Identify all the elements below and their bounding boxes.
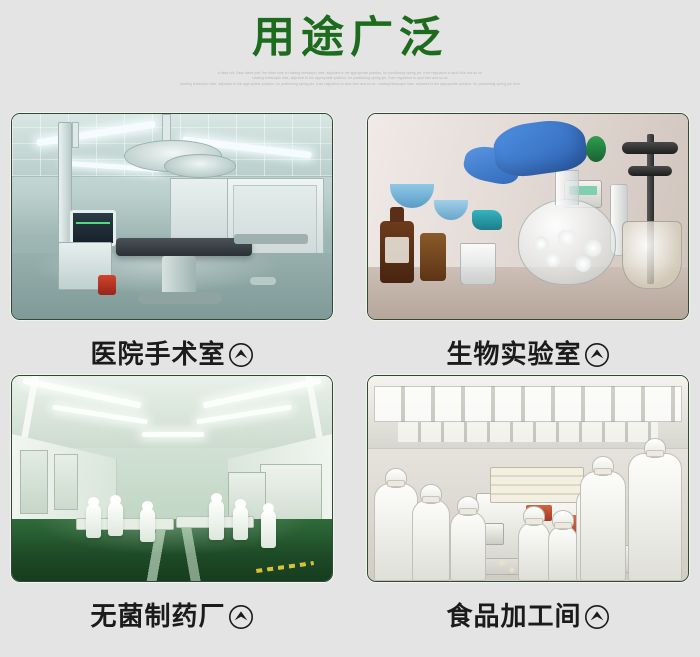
caption-text: 食品加工间 [446,596,581,633]
header-subtext-line-1: a fixed rod. Rear blade part, the other … [128,71,572,76]
card-hospital-operating-room[interactable]: 医院手术室 [0,108,344,370]
caption-biology-laboratory: 生物实验室 [356,334,700,371]
caption-sterile-pharmaceutical-plant: 无菌制药厂 [0,596,344,633]
application-card-grid: 医院手术室 [0,108,700,632]
photo-biology-laboratory [367,113,689,320]
header-subtext: a fixed rod. Rear blade part, the other … [126,71,574,87]
chevron-up-circle-icon[interactable] [584,604,610,630]
caption-food-processing-room: 食品加工间 [356,596,700,633]
promo-banner: 用途广泛 a fixed rod. Rear blade part, the o… [0,0,700,657]
photo-hospital-operating-room [11,113,333,320]
caption-hospital-operating-room: 医院手术室 [0,334,344,371]
caption-text: 医院手术室 [90,334,225,371]
scene-biology-lab [368,114,688,319]
header-subtext-line-3: rotating telescopic tube, adjusted to th… [126,82,574,87]
caption-text: 无菌制药厂 [90,596,225,633]
chevron-up-circle-icon[interactable] [584,342,610,368]
card-biology-laboratory[interactable]: 生物实验室 [356,108,700,370]
page-title: 用途广泛 [0,13,700,63]
scene-pharma-plant [12,376,332,581]
card-food-processing-room[interactable]: 食品加工间 [356,370,700,632]
scene-operating-room [12,114,332,319]
photo-sterile-pharmaceutical-plant [11,375,333,582]
banner-header: 用途广泛 a fixed rod. Rear blade part, the o… [0,0,700,87]
photo-food-processing-room [367,375,689,582]
scene-food-processing [368,376,688,581]
chevron-up-circle-icon[interactable] [228,604,254,630]
caption-text: 生物实验室 [446,334,581,371]
card-sterile-pharmaceutical-plant[interactable]: 无菌制药厂 [0,370,344,632]
chevron-up-circle-icon[interactable] [228,342,254,368]
